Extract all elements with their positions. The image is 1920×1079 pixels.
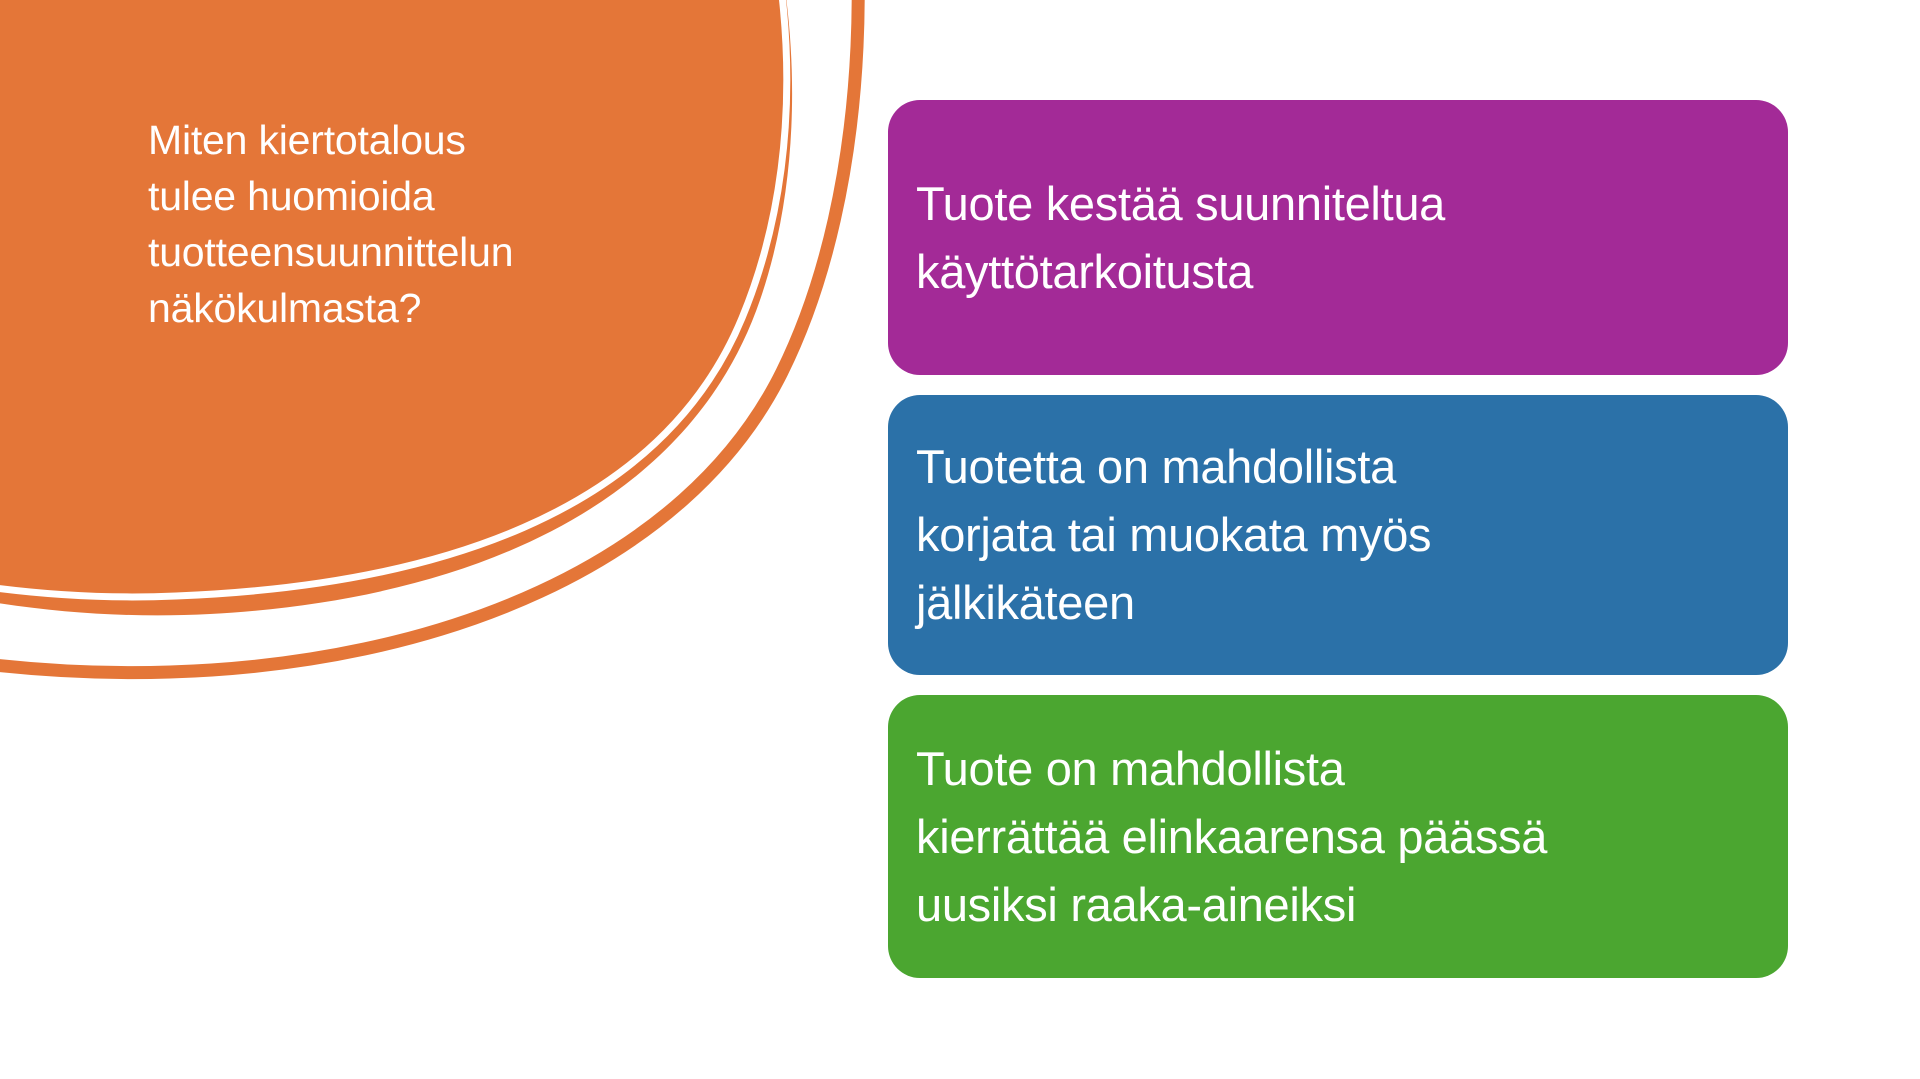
page-title: Miten kiertotalous tulee huomioida tuott… [148,112,618,336]
card-durability-text: Tuote kestää suunniteltua käyttötarkoitu… [916,170,1445,306]
slide-canvas: Miten kiertotalous tulee huomioida tuott… [0,0,1920,1079]
card-durability[interactable]: Tuote kestää suunniteltua käyttötarkoitu… [888,100,1788,375]
card-repairability-text: Tuotetta on mahdollista korjata tai muok… [916,433,1431,637]
card-recyclability[interactable]: Tuote on mahdollista kierrättää elinkaar… [888,695,1788,978]
blob-accent-arc [0,0,858,673]
card-recyclability-text: Tuote on mahdollista kierrättää elinkaar… [916,735,1547,939]
cards-list: Tuote kestää suunniteltua käyttötarkoitu… [888,100,1788,978]
page-title-text: Miten kiertotalous tulee huomioida tuott… [148,112,618,336]
card-repairability[interactable]: Tuotetta on mahdollista korjata tai muok… [888,395,1788,675]
